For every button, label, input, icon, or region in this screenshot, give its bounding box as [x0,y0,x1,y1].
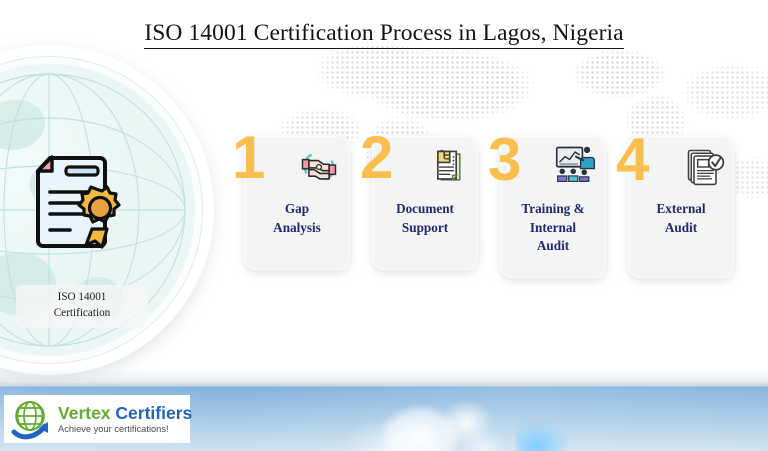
step-number: 2 [360,128,391,188]
step-card-document-support[interactable]: 2 [372,136,478,270]
globe-arrow-logo-icon [10,398,54,440]
step-card-header: 4 [628,136,734,198]
step-card-header: 2 [372,136,478,198]
step-label-line3: Audit [504,237,602,256]
step-label: Training & Internal Audit [500,198,606,256]
footer-banner: Vertex Certifiers Achieve your certifica… [0,385,768,451]
logo-text-block: Vertex Certifiers Achieve your certifica… [58,403,192,435]
page-title: ISO 14001 Certification Process in Lagos… [0,20,768,47]
step-label: Gap Analysis [244,198,350,237]
step-number: 1 [232,128,263,188]
step-label-line2: Analysis [248,219,346,238]
badge-caption: ISO 14001 Certification [16,285,148,328]
logo-brand-second: Certifiers [115,403,192,423]
clipboard-documents-icon [425,144,469,190]
step-number: 4 [616,130,647,190]
step-card-header: 1 [244,136,350,198]
infographic-canvas: ISO 14001 Certification Process in Lagos… [0,0,768,451]
training-presentation-icon [552,142,600,186]
company-logo[interactable]: Vertex Certifiers Achieve your certifica… [4,395,190,443]
step-label-line1: External [632,200,730,219]
footer-divider-shadow [0,368,768,386]
page-title-text: ISO 14001 Certification Process in Lagos… [144,20,623,49]
logo-tagline: Achieve your certifications! [58,423,192,435]
step-card-gap-analysis[interactable]: 1 Gap Analysis [244,136,350,270]
step-card-external-audit[interactable]: 4 [628,136,734,278]
step-card-header: 3 [500,136,606,198]
step-label: External Audit [628,198,734,237]
step-label: Document Support [372,198,478,237]
step-number: 3 [488,130,519,190]
logo-brand-name: Vertex Certifiers [58,403,192,423]
step-label-line1: Document [376,200,474,219]
document-stack-check-icon [683,144,727,190]
step-label-line2: Support [376,219,474,238]
step-label-line2: Internal [504,219,602,238]
logo-brand-first: Vertex [58,403,111,423]
step-label-line1: Gap [248,200,346,219]
step-label-line1: Training & [504,200,602,219]
handshake-collaboration-icon [297,144,341,190]
step-card-training-internal-audit[interactable]: 3 [500,136,606,278]
footer-top-highlight [0,385,768,387]
step-label-line2: Audit [632,219,730,238]
certificate-document-medal-icon [26,153,122,251]
badge-caption-line2: Certification [22,306,142,322]
process-steps: 1 Gap Analysis [240,136,760,286]
badge-caption-line1: ISO 14001 [22,290,142,306]
iso-certification-badge: ISO 14001 Certification [0,45,214,375]
